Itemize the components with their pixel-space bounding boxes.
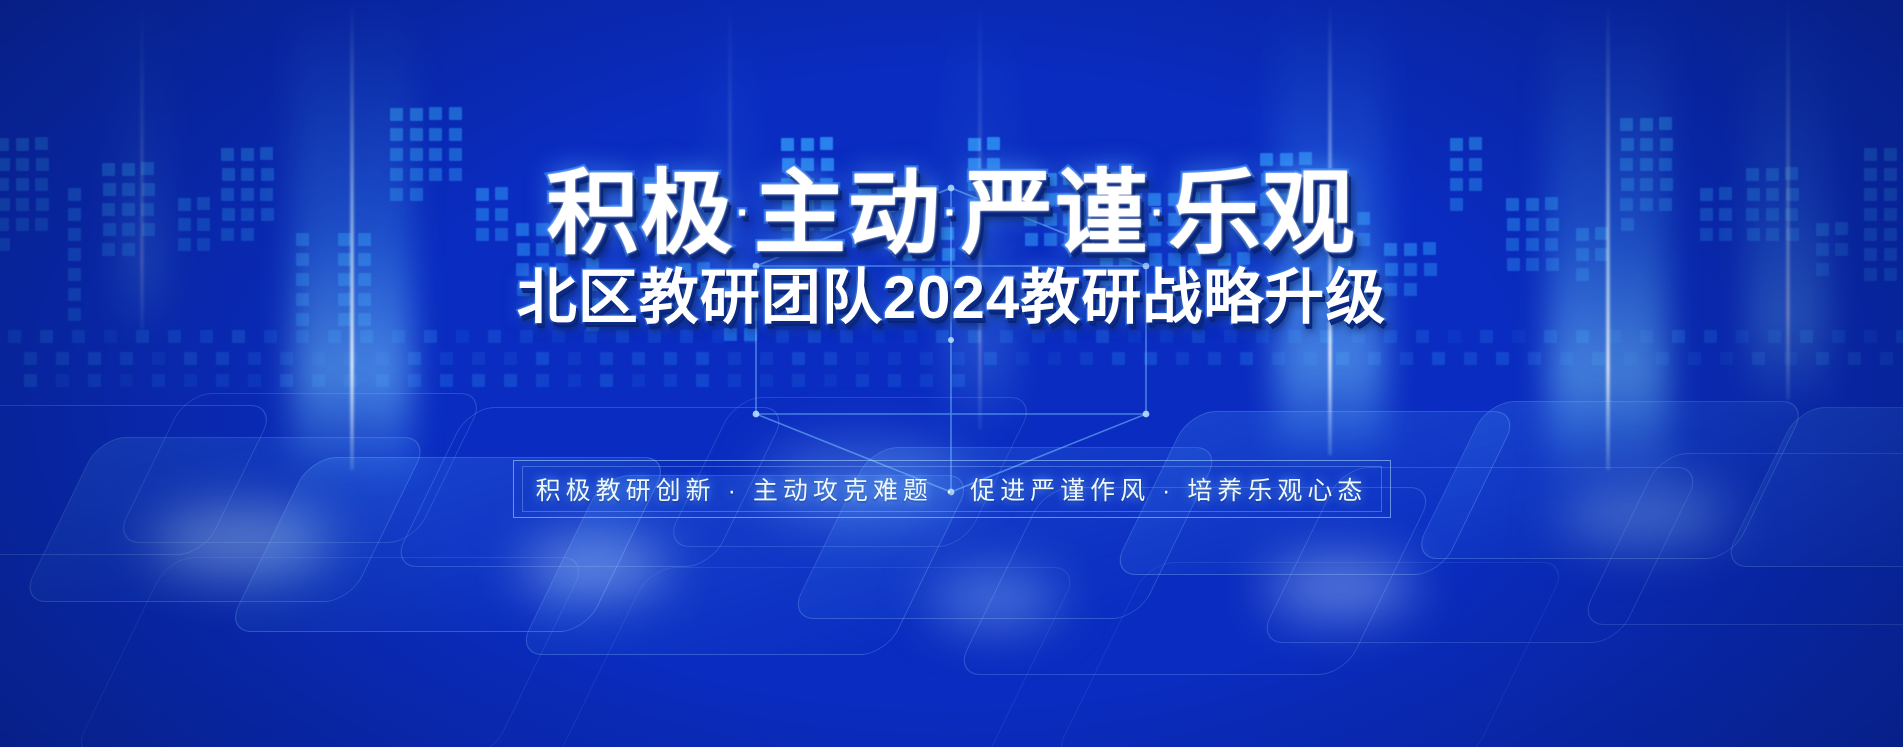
banner-title: 积极·主动·严谨·乐观 xyxy=(0,168,1903,260)
banner-subtitle: 北区教研团队2024教研战略升级 xyxy=(0,268,1903,328)
title-separator-dot: · xyxy=(1151,191,1166,235)
title-separator-dot: · xyxy=(944,191,959,235)
tagline-bar: 积极教研创新 · 主动攻克难题 · 促进严谨作风 · 培养乐观心态 xyxy=(513,460,1391,518)
hero-banner: 积极·主动·严谨·乐观 北区教研团队2024教研战略升级 积极教研创新 · 主动… xyxy=(0,0,1903,747)
title-separator-dot: · xyxy=(736,191,751,235)
title-segment: 积极 xyxy=(546,163,734,265)
title-segment: 主动 xyxy=(754,163,942,265)
title-segment: 乐观 xyxy=(1169,163,1357,265)
banner-content: 积极·主动·严谨·乐观 北区教研团队2024教研战略升级 积极教研创新 · 主动… xyxy=(0,0,1903,747)
title-segment: 严谨 xyxy=(961,163,1149,265)
tagline-text: 积极教研创新 · 主动攻克难题 · 促进严谨作风 · 培养乐观心态 xyxy=(513,460,1391,518)
